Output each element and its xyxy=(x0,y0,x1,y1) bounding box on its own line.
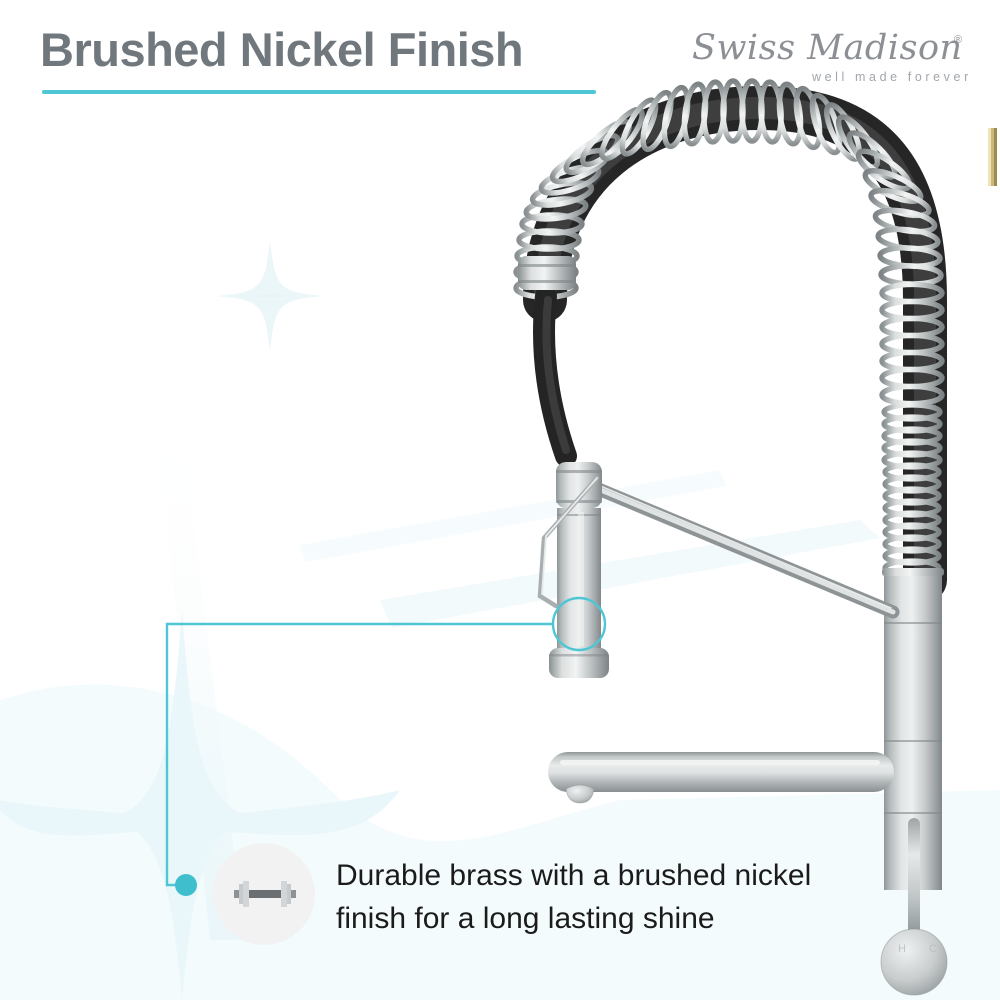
product-feature-graphic: Brushed Nickel Finish Swiss Madison ® we… xyxy=(0,0,1000,1000)
caption-line-2: finish for a long lasting shine xyxy=(336,898,896,941)
dumbbell-icon xyxy=(231,873,299,915)
caption-line-1: Durable brass with a brushed nickel xyxy=(336,855,896,898)
feature-icon-bubble xyxy=(213,843,315,945)
svg-text:C: C xyxy=(929,943,937,955)
svg-text:H: H xyxy=(898,943,906,955)
faucet-product-image: H C xyxy=(0,0,1000,1000)
feature-caption: Durable brass with a brushed nickel fini… xyxy=(336,855,896,940)
